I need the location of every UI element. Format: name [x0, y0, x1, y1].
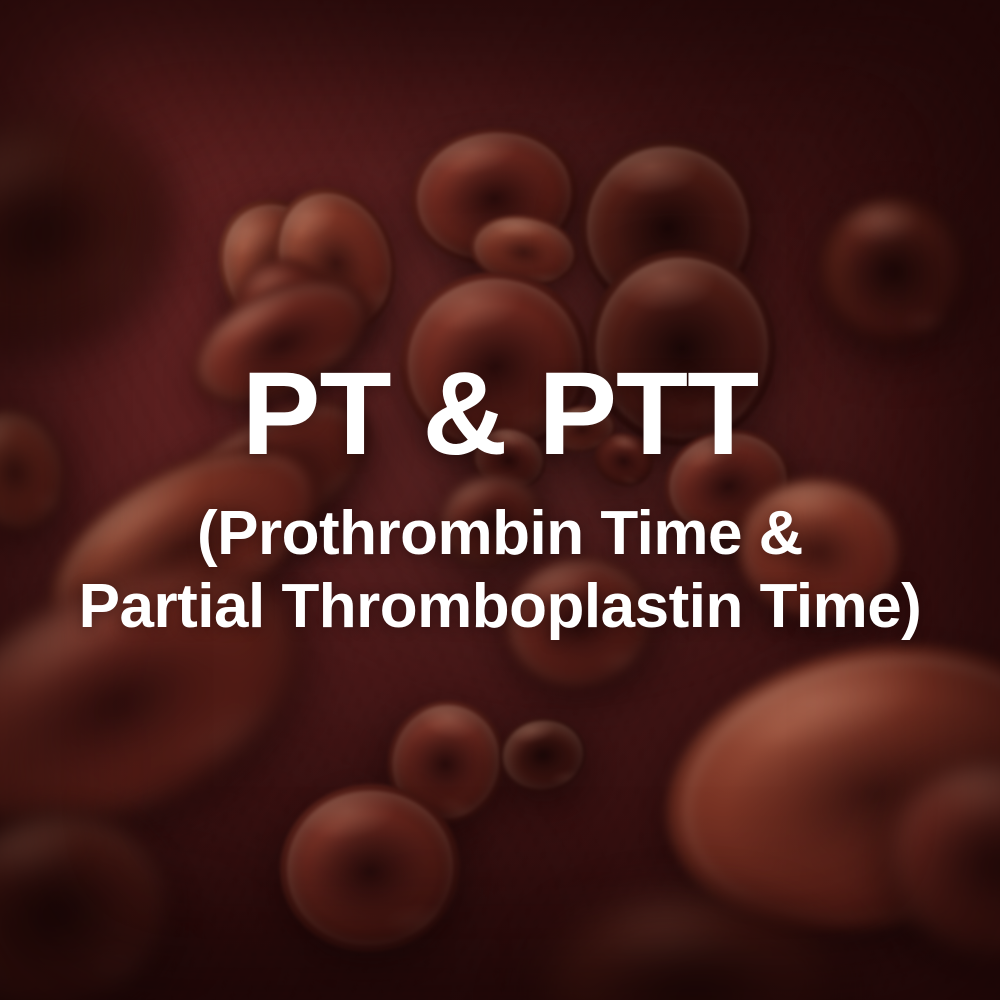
banner-title: PT & PTT	[202, 357, 798, 473]
banner-subtitle-line-2: Partial Thromboplastin Time)	[79, 571, 922, 644]
pt-ptt-banner: PT & PTT (Prothrombin Time & Partial Thr…	[0, 0, 1000, 1000]
banner-subtitle-line-1: (Prothrombin Time &	[79, 498, 922, 571]
banner-subtitle: (Prothrombin Time & Partial Thromboplast…	[49, 498, 952, 643]
banner-text-block: PT & PTT (Prothrombin Time & Partial Thr…	[0, 0, 1000, 1000]
